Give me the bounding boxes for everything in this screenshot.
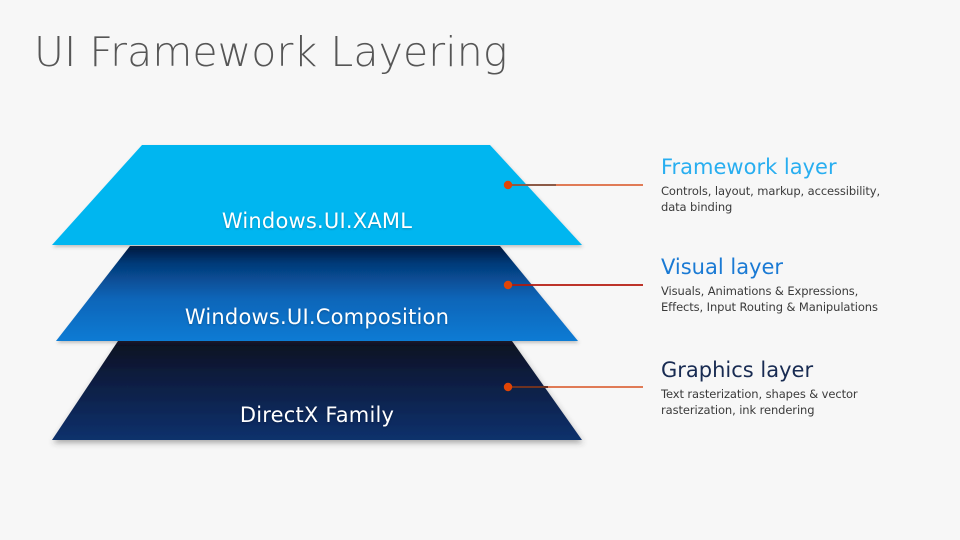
slide-canvas: UI Framework Layering <box>0 0 960 540</box>
layer-shape-graphics[interactable] <box>52 341 582 440</box>
annotation-title-visual: Visual layer <box>661 254 951 280</box>
layer-shape-framework[interactable] <box>52 145 582 245</box>
annotation-desc-visual: Visuals, Animations & Expressions, Effec… <box>661 284 951 315</box>
connector-dot-icon-framework[interactable] <box>504 181 512 189</box>
annotation-desc-framework: Controls, layout, markup, accessibility,… <box>661 184 951 215</box>
annotation-desc-line-2: Effects, Input Routing & Manipulations <box>661 300 951 316</box>
annotation-desc-line-1: Controls, layout, markup, accessibility, <box>661 184 951 200</box>
connector-dot-icon-graphics[interactable] <box>504 383 512 391</box>
layer-stack-diagram: Windows.UI.XAML Windows.UI.Composition D… <box>0 0 660 540</box>
annotation-title-framework: Framework layer <box>661 154 951 180</box>
layer-shape-visual[interactable] <box>56 246 578 341</box>
annotation-desc-line-2: data binding <box>661 200 951 216</box>
annotation-desc-line-1: Visuals, Animations & Expressions, <box>661 284 951 300</box>
annotation-desc-line-1: Text rasterization, shapes & vector <box>661 387 951 403</box>
annotation-framework: Framework layer Controls, layout, markup… <box>661 154 951 215</box>
annotation-title-graphics: Graphics layer <box>661 357 951 383</box>
annotation-visual: Visual layer Visuals, Animations & Expre… <box>661 254 951 315</box>
annotation-desc-graphics: Text rasterization, shapes & vector rast… <box>661 387 951 418</box>
annotation-graphics: Graphics layer Text rasterization, shape… <box>661 357 951 418</box>
connector-dot-icon-visual[interactable] <box>504 281 512 289</box>
annotation-desc-line-2: rasterization, ink rendering <box>661 403 951 419</box>
